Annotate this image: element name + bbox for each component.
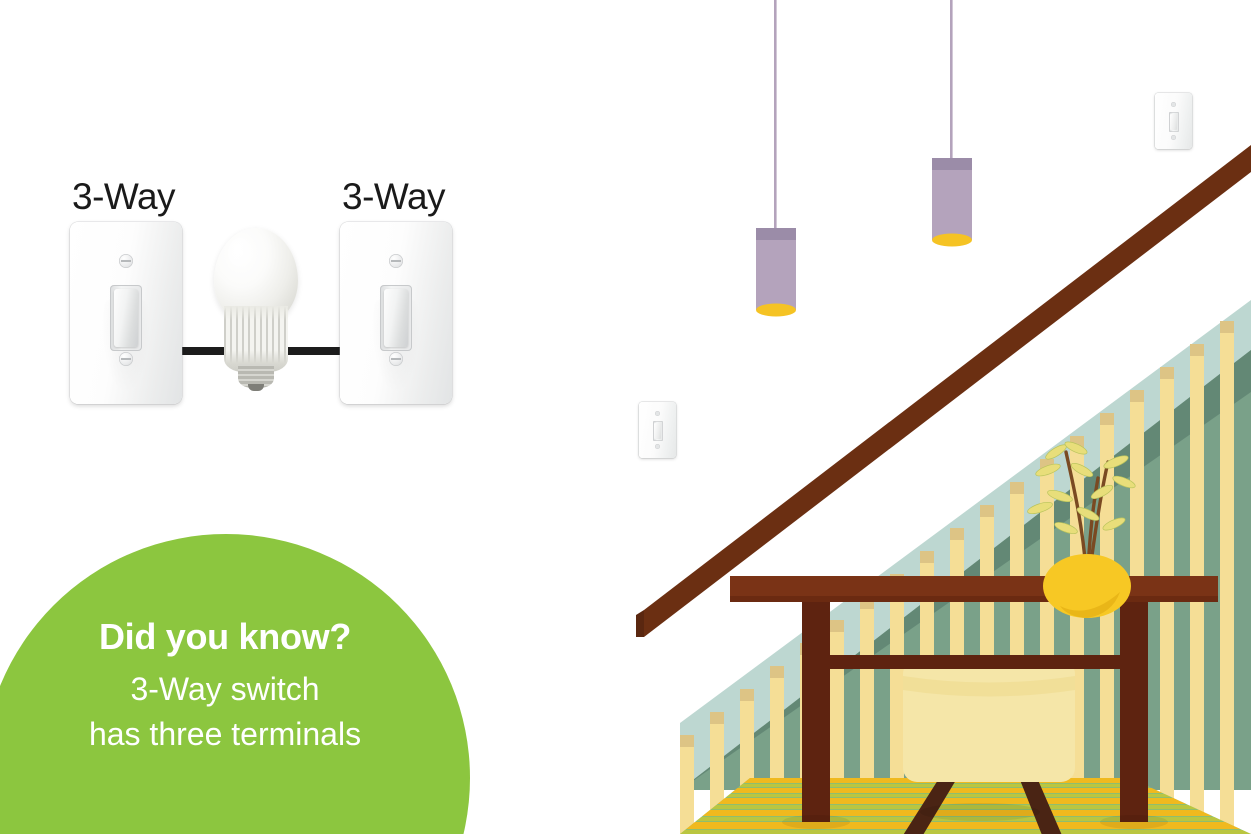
callout-line-1: 3-Way switch bbox=[0, 667, 450, 712]
left-switch-label: 3-Way bbox=[72, 176, 175, 218]
screw-icon bbox=[119, 254, 133, 268]
toggle-slot bbox=[653, 421, 663, 441]
light-bulb bbox=[212, 228, 300, 388]
screw-icon bbox=[1171, 135, 1176, 140]
callout-title: Did you know? bbox=[0, 616, 450, 658]
toggle-lever[interactable] bbox=[654, 423, 661, 440]
toggle-slot bbox=[110, 285, 142, 351]
right-switch-label: 3-Way bbox=[342, 176, 445, 218]
toggle-switch-right[interactable] bbox=[340, 222, 452, 404]
illustration-canvas: 3-Way 3-Way bbox=[0, 0, 1251, 834]
bulb-contact-tip bbox=[248, 384, 264, 391]
did-you-know-text-block: Did you know? 3-Way switch has three ter… bbox=[0, 616, 450, 757]
screw-icon bbox=[1171, 102, 1176, 107]
toggle-lever[interactable] bbox=[114, 289, 138, 347]
toggle-lever[interactable] bbox=[384, 289, 408, 347]
wall-switch-upper[interactable] bbox=[1155, 93, 1192, 149]
bulb-heatsink bbox=[224, 306, 288, 372]
pendant-lamp-left bbox=[756, 0, 796, 317]
wall-switch-lower[interactable] bbox=[639, 402, 676, 458]
toggle-lever[interactable] bbox=[1170, 114, 1177, 131]
screw-icon bbox=[655, 411, 660, 416]
toggle-slot bbox=[1169, 112, 1179, 132]
screw-icon bbox=[119, 352, 133, 366]
toggle-switch-left[interactable] bbox=[70, 222, 182, 404]
screw-icon bbox=[389, 352, 403, 366]
stool bbox=[900, 660, 1075, 834]
screw-icon bbox=[655, 444, 660, 449]
toggle-slot bbox=[380, 285, 412, 351]
screw-icon bbox=[389, 254, 403, 268]
callout-line-2: has three terminals bbox=[0, 712, 450, 757]
pendant-lamp-right bbox=[932, 0, 972, 247]
